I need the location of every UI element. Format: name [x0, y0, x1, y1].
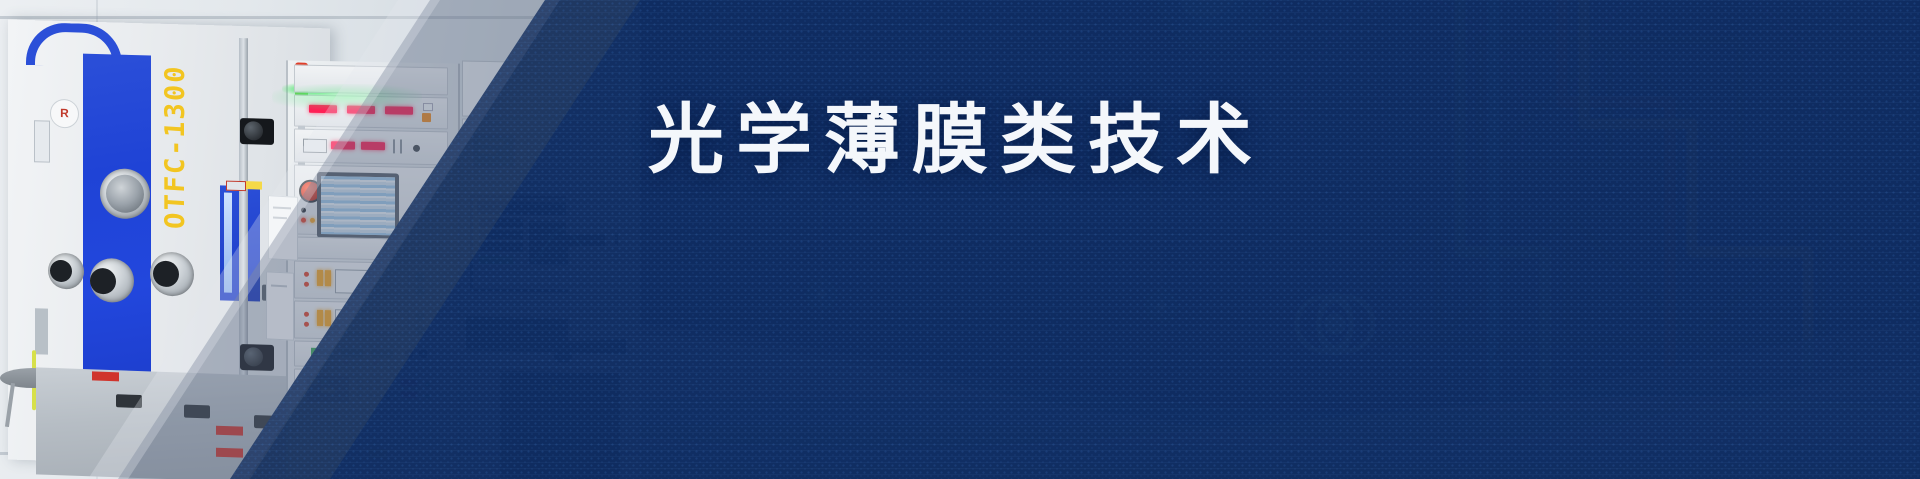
diagonal-overlays: [0, 0, 1920, 479]
optical-film-technology-banner: λ1 λ2 λ3 λ4 R OTFC-1300: [0, 0, 1920, 479]
page-title: 光学薄膜类技术: [648, 96, 1348, 186]
